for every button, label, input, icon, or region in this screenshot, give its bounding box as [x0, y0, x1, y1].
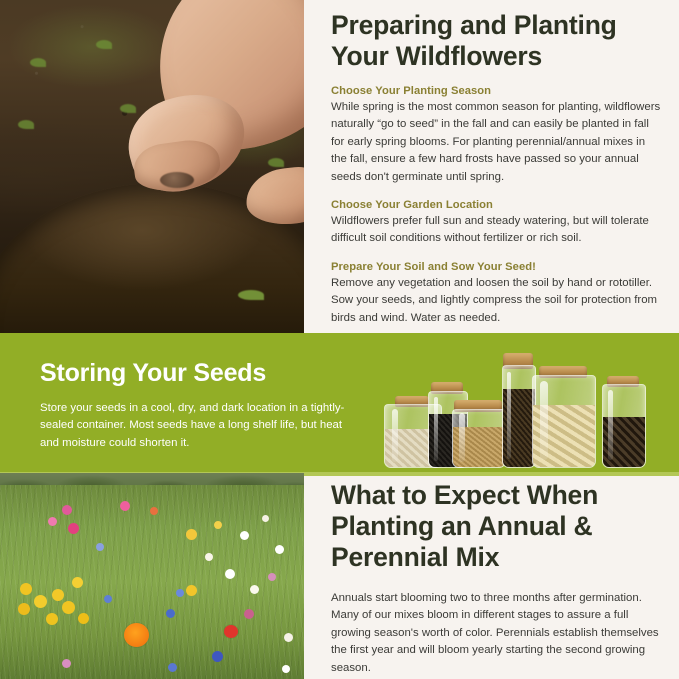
- bodytext-garden-location: Wildflowers prefer full sun and steady w…: [331, 213, 661, 248]
- wildflower-meadow-photo: [0, 473, 304, 679]
- flower-blue-cornflower: [176, 589, 184, 597]
- sprout-icon: [120, 104, 136, 113]
- flower-pink: [62, 659, 71, 668]
- flower-blue-cornflower: [168, 663, 177, 672]
- flower-pink: [244, 609, 254, 619]
- seed-jar: [502, 353, 534, 468]
- storing-seeds-title: Storing Your Seeds: [40, 359, 345, 388]
- flower-white: [250, 585, 259, 594]
- flower-white: [284, 633, 293, 642]
- flower-red-poppy: [224, 625, 238, 638]
- what-to-expect-title-line-1: What to Expect When: [331, 480, 661, 511]
- jar-glass: [502, 365, 536, 468]
- flower-white: [225, 569, 235, 579]
- seed-jar: [452, 400, 504, 468]
- glass-jars-of-seeds-photo: [380, 341, 672, 472]
- jar-glass: [602, 384, 646, 468]
- flower-yellow-daisy: [78, 613, 89, 624]
- what-to-expect-title: What to Expect When Planting an Annual &…: [331, 480, 661, 573]
- flower-yellow-daisy: [186, 585, 197, 596]
- jar-highlight: [392, 409, 399, 462]
- flower-white: [240, 531, 249, 540]
- bodytext-prepare-soil: Remove any vegetation and loosen the soi…: [331, 275, 661, 327]
- jar-highlight: [507, 372, 511, 459]
- flower-yellow-daisy: [20, 583, 32, 595]
- flower-magenta: [68, 523, 79, 534]
- preparing-and-planting-section: Preparing and Planting Your Wildflowers …: [0, 0, 679, 333]
- flower-blue-cornflower: [104, 595, 112, 603]
- page-title-line-2: Your Wildflowers: [331, 41, 661, 72]
- subheading-planting-season: Choose Your Planting Season: [331, 85, 661, 97]
- what-to-expect-title-line-2: Planting an Annual &: [331, 511, 661, 542]
- flower-yellow-daisy: [34, 595, 47, 608]
- page-title-line-1: Preparing and Planting: [331, 10, 661, 41]
- flower-blue-cornflower: [212, 651, 223, 662]
- flower-yellow-daisy: [18, 603, 30, 615]
- sprout-icon: [18, 120, 34, 129]
- jar-highlight: [540, 381, 547, 459]
- flower-yellow-daisy: [72, 577, 83, 588]
- page-title: Preparing and Planting Your Wildflowers: [331, 10, 661, 72]
- jar-glass: [452, 409, 506, 468]
- flower-white: [262, 515, 269, 522]
- top-text-column: Preparing and Planting Your Wildflowers …: [331, 10, 661, 327]
- jar-highlight: [608, 390, 613, 461]
- flower-pink: [62, 505, 72, 515]
- flower-pink: [48, 517, 57, 526]
- flower-yellow: [186, 529, 197, 540]
- flower-blue-cornflower: [96, 543, 104, 551]
- flower-white: [282, 665, 290, 673]
- flower-yellow-daisy: [62, 601, 75, 614]
- flower-orange: [150, 507, 158, 515]
- sprout-icon: [268, 158, 284, 167]
- flower-white: [205, 553, 213, 561]
- subheading-garden-location: Choose Your Garden Location: [331, 199, 661, 211]
- infographic-page: Preparing and Planting Your Wildflowers …: [0, 0, 679, 679]
- green-text-column: Storing Your Seeds Store your seeds in a…: [40, 359, 345, 452]
- flower-pink: [120, 501, 130, 511]
- bodytext-planting-season: While spring is the most common season f…: [331, 99, 661, 186]
- flower-blue-cornflower: [166, 609, 175, 618]
- seeds-in-hand: [160, 172, 194, 188]
- flower-yellow-daisy: [52, 589, 64, 601]
- hand-sowing-seeds-in-soil-photo: [0, 0, 304, 333]
- jar-highlight: [459, 413, 465, 462]
- what-to-expect-body: Annuals start blooming two to three mont…: [331, 590, 661, 677]
- flower-yellow-daisy: [46, 613, 58, 625]
- seed-jar: [532, 366, 594, 468]
- flower-white: [275, 545, 284, 554]
- grass-blade-icon: [238, 290, 264, 300]
- flower-yellow: [214, 521, 222, 529]
- what-to-expect-title-line-3: Perennial Mix: [331, 542, 661, 573]
- sprout-icon: [30, 58, 46, 67]
- subheading-prepare-soil: Prepare Your Soil and Sow Your Seed!: [331, 261, 661, 273]
- storing-seeds-body: Store your seeds in a cool, dry, and dar…: [40, 400, 345, 452]
- jar-highlight: [434, 397, 439, 462]
- jar-glass: [532, 375, 596, 468]
- flower-pink: [268, 573, 276, 581]
- seed-jar: [602, 376, 644, 468]
- flower-orange-poppy: [124, 623, 149, 647]
- sprout-icon: [96, 40, 112, 49]
- bottom-text-column: What to Expect When Planting an Annual &…: [331, 480, 661, 677]
